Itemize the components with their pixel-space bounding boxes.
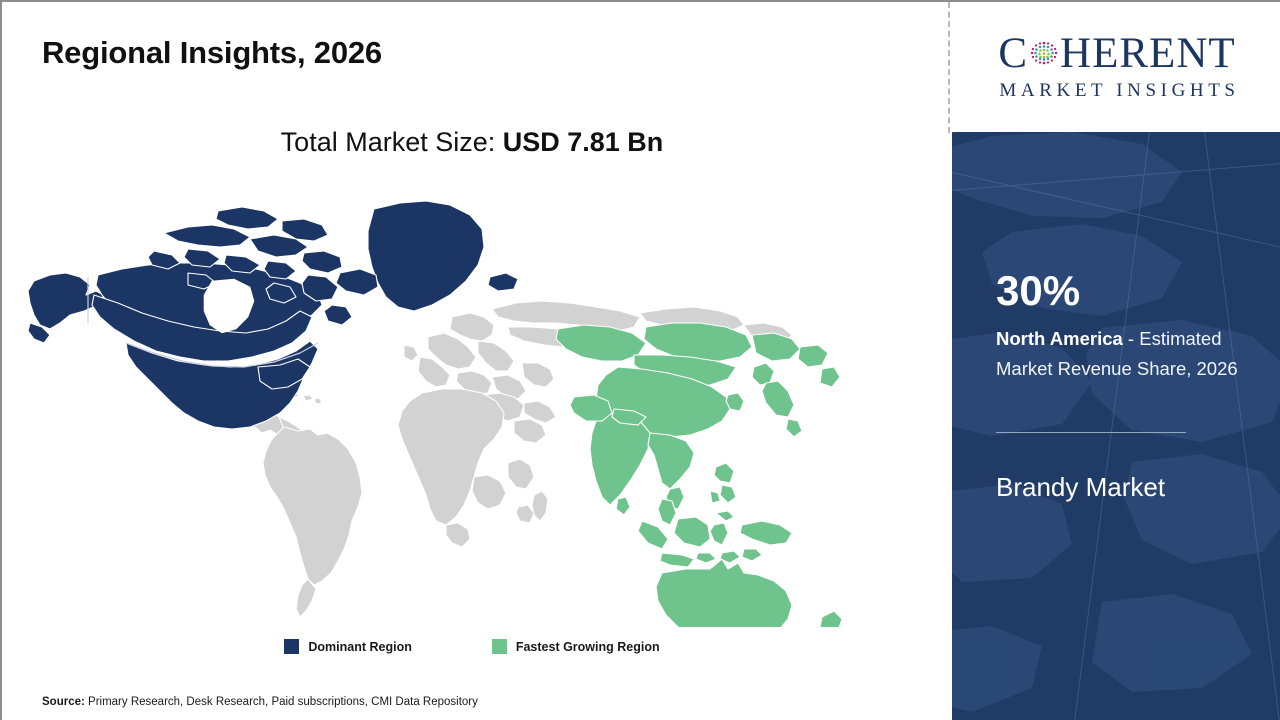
main-content-area: Regional Insights, 2026 Total Market Siz… (2, 2, 950, 720)
logo-wordmark: C HERENT (998, 32, 1235, 75)
legend-item-dominant: Dominant Region (284, 639, 411, 654)
legend-item-growing: Fastest Growing Region (492, 639, 660, 654)
source-label: Source: (42, 696, 85, 708)
share-region-name: North America (996, 328, 1123, 349)
logo-subtitle: MARKET INSIGHTS (994, 80, 1239, 102)
source-text: Primary Research, Desk Research, Paid su… (85, 696, 478, 708)
logo-letter-c: C (998, 32, 1028, 75)
market-size-value: USD 7.81 Bn (503, 127, 664, 157)
total-market-size-line: Total Market Size: USD 7.81 Bn (2, 127, 942, 158)
legend-label-growing: Fastest Growing Region (516, 640, 660, 654)
vertical-dashed-divider (948, 2, 950, 133)
legend-swatch-growing (492, 639, 507, 654)
dotted-globe-icon (1029, 38, 1059, 68)
share-description: North America - Estimated Market Revenue… (996, 324, 1264, 384)
world-map (22, 177, 922, 627)
source-line: Source: Primary Research, Desk Research,… (42, 696, 478, 708)
page-title: Regional Insights, 2026 (42, 35, 382, 71)
map-legend: Dominant Region Fastest Growing Region (2, 639, 942, 654)
legend-label-dominant: Dominant Region (308, 640, 411, 654)
map-region-growing (556, 323, 842, 627)
share-percent-value: 30% (996, 270, 1080, 312)
panel-divider-rule (996, 432, 1186, 433)
market-name: Brandy Market (996, 472, 1276, 503)
panel-content: 30% North America - Estimated Market Rev… (952, 132, 1280, 720)
logo-letters-herent: HERENT (1060, 32, 1236, 75)
legend-swatch-dominant (284, 639, 299, 654)
brand-logo: C HERENT MARKET INSIG (952, 2, 1280, 132)
world-map-svg (22, 177, 922, 627)
regional-highlight-panel: 30% North America - Estimated Market Rev… (952, 132, 1280, 720)
market-size-prefix: Total Market Size: (281, 127, 503, 157)
